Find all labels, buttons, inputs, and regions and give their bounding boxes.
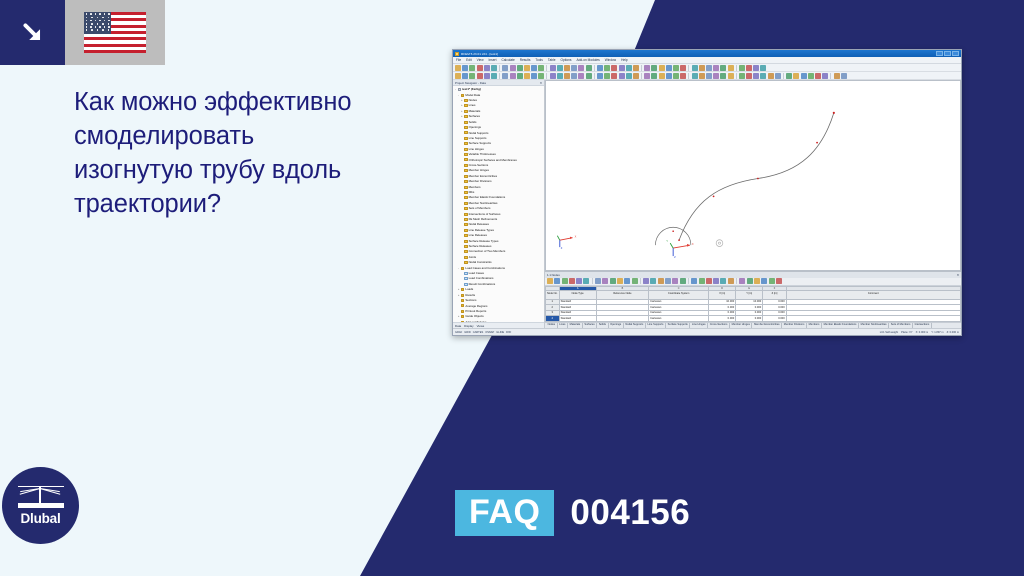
toolbar-button-39-icon[interactable]	[713, 73, 719, 79]
node-endpoint-marker	[833, 112, 835, 114]
toolbar-button-24-icon[interactable]	[611, 65, 617, 71]
folder-icon	[461, 94, 465, 97]
bridge-icon	[18, 486, 64, 508]
collapse-icon[interactable]: -	[457, 321, 460, 322]
folder-icon	[464, 126, 468, 129]
folder-icon	[464, 180, 468, 183]
tree-item-label: Model Data	[465, 94, 480, 97]
toolbar-button-31-icon[interactable]	[659, 65, 665, 71]
folder-icon	[464, 234, 468, 237]
folder-icon	[464, 110, 468, 113]
toolbar-button-40-icon[interactable]	[720, 65, 726, 71]
tree-spacer	[460, 283, 463, 286]
toolbar-button-12-icon[interactable]	[624, 278, 630, 284]
toolbar-button-27-icon[interactable]	[728, 278, 734, 284]
tree-item-label: Ribs	[469, 191, 475, 194]
toolbar-button-36-icon[interactable]	[692, 73, 698, 79]
toolbar-separator	[736, 278, 737, 284]
nodes-table[interactable]: ABCDEFNode No.Node TypeReference NodeCoo…	[545, 286, 961, 322]
tree-item-label: Load Cases and Combinations	[465, 267, 505, 270]
toolbar-button-43-icon[interactable]	[739, 73, 745, 79]
tree-item-label: Intersections of Surfaces	[469, 213, 501, 216]
toolbar-button-44-icon[interactable]	[746, 73, 752, 79]
tree-spacer	[460, 186, 463, 189]
toolbar-button-22-icon[interactable]	[597, 65, 603, 71]
toolbar-button-29-icon[interactable]	[739, 278, 745, 284]
toolbar-button-45-icon[interactable]	[753, 73, 759, 79]
toolbar-button-2-icon[interactable]	[462, 73, 468, 79]
tree-spacer	[460, 256, 463, 259]
status-info: Plane: XY	[901, 331, 913, 334]
toolbar-button-47-icon[interactable]	[768, 73, 774, 79]
folder-icon	[464, 218, 468, 221]
minimize-button[interactable]	[936, 51, 943, 56]
tree-item-label: Result Combinations	[469, 283, 496, 286]
main-toolbar[interactable]	[453, 64, 961, 72]
tree-item-label: Member Elastic Foundations	[469, 196, 506, 199]
faq-footer: FAQ 004156	[455, 490, 690, 536]
toolbar-button-46-icon[interactable]	[760, 73, 766, 79]
dlubal-logo: Dlubal	[2, 467, 79, 544]
folder-icon	[464, 158, 468, 161]
toolbar-button-22-icon[interactable]	[597, 73, 603, 79]
tree-spacer	[460, 121, 463, 124]
toolbar-button-20-icon[interactable]	[680, 278, 686, 284]
toolbar-button-52-icon[interactable]	[801, 73, 807, 79]
tree-item-label: Members	[469, 186, 481, 189]
folder-icon	[461, 315, 465, 318]
node-marker	[816, 142, 818, 144]
status-toggle-graf[interactable]: GRAF	[455, 331, 462, 334]
tree-spacer	[460, 131, 463, 134]
tree-item-label: Sections	[465, 299, 476, 302]
toolbar-button-9-icon[interactable]	[510, 65, 516, 71]
tree-spacer	[460, 142, 463, 145]
toolbar-button-29-icon[interactable]	[644, 65, 650, 71]
tree-item-label: Average Regions	[465, 305, 487, 308]
tree-item-label: Connection of Two Members	[469, 250, 506, 253]
tree-item-label: Line Releases	[469, 234, 487, 237]
toolbar-separator	[688, 73, 689, 79]
toolbar-button-15-icon[interactable]	[550, 65, 556, 71]
toolbar-button-38-icon[interactable]	[706, 73, 712, 79]
toolbar-separator	[592, 278, 593, 284]
collapse-icon[interactable]: -	[457, 94, 460, 97]
table-title-text: 1.1 Nodes	[547, 273, 560, 277]
status-toggle-cartes[interactable]: CARTES	[473, 331, 483, 334]
tree-item-label: Surface Supports	[469, 142, 491, 145]
expand-icon[interactable]: +	[457, 294, 460, 297]
toolbar-button-10-icon[interactable]	[517, 65, 523, 71]
toolbar-button-31-icon[interactable]	[754, 278, 760, 284]
folder-icon	[464, 153, 468, 156]
tree-item-label: Surfaces	[469, 115, 480, 118]
toolbar-button-16-icon[interactable]	[650, 278, 656, 284]
work-area: Project Navigator - Data ✕ -test1* (Fert…	[453, 80, 961, 328]
grid-header-cell[interactable]: Coordinate System	[649, 290, 709, 299]
toolbar-button-34-icon[interactable]	[680, 65, 686, 71]
toolbar-button-10-icon[interactable]	[517, 73, 523, 79]
maximize-button[interactable]	[944, 51, 951, 56]
tree-item-label: Materials	[469, 110, 481, 113]
toolbar-button-41-icon[interactable]	[728, 73, 734, 79]
folder-icon	[464, 229, 468, 232]
grid-header-cell[interactable]: Node Type	[559, 290, 596, 299]
menu-item-window[interactable]: Window	[605, 58, 616, 62]
toolbar-button-53-icon[interactable]	[808, 73, 814, 79]
toolbar-button-11-icon[interactable]	[524, 73, 530, 79]
menu-item-edit[interactable]: Edit	[466, 58, 472, 62]
close-button[interactable]	[952, 51, 959, 56]
folder-icon	[464, 186, 468, 189]
toolbar-separator	[546, 73, 547, 79]
toolbar-button-27-icon[interactable]	[633, 65, 639, 71]
menu-item-tools[interactable]: Tools	[535, 58, 542, 62]
navigator-title: Project Navigator - Data	[455, 81, 486, 85]
toolbar-button-20-icon[interactable]	[586, 73, 592, 79]
expand-icon[interactable]: +	[460, 110, 463, 113]
toolbar-button-5-icon[interactable]	[484, 65, 490, 71]
navigator-tab-data[interactable]: Data	[455, 324, 461, 328]
navigator-tab-views[interactable]: Views	[477, 324, 485, 328]
toolbar-button-19-icon[interactable]	[672, 278, 678, 284]
status-toggle-gline[interactable]: GLINE	[496, 331, 504, 334]
model-canvas[interactable]: X Z Y X Z	[546, 81, 960, 270]
toolbar-button-5-icon[interactable]	[576, 278, 582, 284]
folder-icon	[464, 137, 468, 140]
toolbar-button-44-icon[interactable]	[746, 65, 752, 71]
folder-icon	[464, 148, 468, 151]
tree-item-label: Solids	[469, 121, 477, 124]
expand-icon[interactable]: +	[460, 99, 463, 102]
table-panel: 1.1 Nodes ✕ ABCDEFNode No.Node TypeRefer…	[545, 271, 961, 328]
toolbar-button-15-icon[interactable]	[550, 73, 556, 79]
folder-icon	[464, 191, 468, 194]
folder-icon	[464, 142, 468, 145]
status-toggle-osnap[interactable]: OSNAP	[485, 331, 494, 334]
construction-arc	[655, 227, 690, 245]
tree-item-label: Member Nonlinearities	[469, 202, 498, 205]
toolbar-button-8-icon[interactable]	[502, 73, 508, 79]
toolbar-button-26-icon[interactable]	[720, 278, 726, 284]
toolbar-button-13-icon[interactable]	[538, 65, 544, 71]
status-bar: GRAFGRIDCARTESOSNAPGLINEDXF LC1 Self-wei…	[453, 328, 961, 335]
navigator-close-icon[interactable]: ✕	[540, 81, 542, 85]
folder-icon	[461, 299, 465, 302]
grid-header-cell[interactable]: Comment	[786, 290, 960, 299]
toolbar-button-57-icon[interactable]	[834, 73, 840, 79]
toolbar-button-5-icon[interactable]	[484, 73, 490, 79]
tree-item-label: Nodal Releases	[469, 223, 489, 226]
menu-item-options[interactable]: Options	[561, 58, 572, 62]
toolbar-button-6-icon[interactable]	[583, 278, 589, 284]
toolbar-button-38-icon[interactable]	[706, 65, 712, 71]
toolbar-separator	[640, 278, 641, 284]
tree-spacer	[460, 234, 463, 237]
toolbar-button-23-icon[interactable]	[604, 65, 610, 71]
toolbar-button-8-icon[interactable]	[595, 278, 601, 284]
arrow-down-right-icon	[0, 0, 65, 65]
tree-spacer	[460, 148, 463, 151]
expand-icon[interactable]: +	[460, 104, 463, 107]
origin-axis-triad: X Z Y	[666, 239, 694, 259]
toolbar-button-30-icon[interactable]	[651, 73, 657, 79]
menu-bar[interactable]: FileEditViewInsertCalculateResultsToolsT…	[453, 57, 961, 64]
tree-spacer	[460, 180, 463, 183]
expand-icon[interactable]: +	[460, 115, 463, 118]
toolbar-separator	[736, 65, 737, 71]
tree-item-label: Joints	[469, 256, 477, 259]
folder-icon	[464, 261, 468, 264]
toolbar-button-36-icon[interactable]	[692, 65, 698, 71]
tree-spacer	[460, 213, 463, 216]
toolbar-button-3-icon[interactable]	[469, 65, 475, 71]
toolbar-button-10-icon[interactable]	[610, 278, 616, 284]
faq-badge: FAQ	[455, 490, 554, 536]
tree-spacer	[460, 240, 463, 243]
grid-header-cell[interactable]: Z [m]	[763, 290, 787, 299]
toolbar-button-32-icon[interactable]	[666, 73, 672, 79]
toolbar-button-2-icon[interactable]	[554, 278, 560, 284]
toolbar-button-11-icon[interactable]	[524, 65, 530, 71]
tree-item-label: Loads	[465, 288, 473, 291]
tree-item-label: Surface Releases	[469, 245, 492, 248]
node-marker	[678, 239, 680, 241]
toolbar-button-11-icon[interactable]	[617, 278, 623, 284]
toolbar-button-17-icon[interactable]	[564, 65, 570, 71]
status-right: LC1 Self-weightPlane: XYX: 0.000 mY: 1.8…	[880, 331, 959, 334]
menu-item-file[interactable]: File	[456, 58, 461, 62]
navigator-tab-display[interactable]: Display	[464, 324, 473, 328]
tree-item-label: Printout Reports	[465, 310, 486, 313]
folder-icon	[464, 196, 468, 199]
toolbar-button-37-icon[interactable]	[699, 65, 705, 71]
folder-icon	[461, 267, 465, 270]
toolbar-button-24-icon[interactable]	[611, 73, 617, 79]
toolbar-separator	[641, 65, 642, 71]
status-left[interactable]: GRAFGRIDCARTESOSNAPGLINEDXF	[455, 331, 511, 334]
toolbar-button-32-icon[interactable]	[761, 278, 767, 284]
tree-spacer	[460, 169, 463, 172]
table-close-icon[interactable]: ✕	[957, 273, 959, 277]
menu-item-insert[interactable]: Insert	[489, 58, 497, 62]
toolbar-button-26-icon[interactable]	[626, 65, 632, 71]
toolbar-button-46-icon[interactable]	[760, 65, 766, 71]
toolbar-button-22-icon[interactable]	[691, 278, 697, 284]
toolbar-button-19-icon[interactable]	[578, 65, 584, 71]
tree-item-label: Guide Objects	[465, 315, 483, 318]
toolbar-button-25-icon[interactable]	[713, 278, 719, 284]
svg-text:Z: Z	[674, 255, 676, 259]
toolbar-button-25-icon[interactable]	[619, 73, 625, 79]
tree-spacer	[460, 245, 463, 248]
folder-icon	[464, 272, 468, 275]
nodes-grid: ABCDEFNode No.Node TypeReference NodeCoo…	[545, 286, 961, 322]
tree-item-label: Openings	[469, 126, 481, 129]
tree-item-label: Nodal Supports	[469, 132, 489, 135]
toolbar-button-43-icon[interactable]	[739, 65, 745, 71]
toolbar-separator	[546, 65, 547, 71]
svg-text:X: X	[575, 235, 577, 239]
toolbar-button-6-icon[interactable]	[491, 73, 497, 79]
menu-item-help[interactable]: Help	[621, 58, 628, 62]
toolbar-button-37-icon[interactable]	[699, 73, 705, 79]
project-navigator: Project Navigator - Data ✕ -test1* (Fert…	[453, 80, 545, 328]
folder-icon	[464, 256, 468, 259]
toolbar-button-41-icon[interactable]	[728, 65, 734, 71]
toolbar-button-33-icon[interactable]	[673, 73, 679, 79]
toolbar-button-20-icon[interactable]	[586, 65, 592, 71]
toolbar-button-6-icon[interactable]	[491, 65, 497, 71]
toolbar-button-27-icon[interactable]	[633, 73, 639, 79]
toolbar-button-15-icon[interactable]	[643, 278, 649, 284]
window-title: RFEM 5.23.01 x64 - [test1]	[461, 52, 934, 56]
navigator-tree[interactable]: -test1* (Fertig)-Model Data+Nodes+Lines+…	[453, 86, 544, 322]
grid-header-cell[interactable]: Reference Node	[596, 290, 648, 299]
tree-spacer	[460, 229, 463, 232]
menu-item-view[interactable]: View	[477, 58, 484, 62]
toolbar-button-55-icon[interactable]	[822, 73, 828, 79]
toolbar-button-24-icon[interactable]	[706, 278, 712, 284]
tree-spacer	[460, 126, 463, 129]
toolbar-button-23-icon[interactable]	[699, 278, 705, 284]
status-toggle-grid[interactable]: GRID	[464, 331, 470, 334]
toolbar-button-1-icon[interactable]	[455, 65, 461, 71]
grid-header-cell[interactable]: X [m]	[709, 290, 736, 299]
us-flag-icon	[84, 12, 146, 53]
model-viewport[interactable]: X Z Y X Z	[545, 80, 961, 271]
toolbar-button-18-icon[interactable]	[571, 73, 577, 79]
menu-item-table[interactable]: Table	[548, 58, 556, 62]
grid-header-cell[interactable]: Y [m]	[736, 290, 763, 299]
toolbar-button-4-icon[interactable]	[477, 73, 483, 79]
secondary-toolbar[interactable]	[453, 72, 961, 80]
toolbar-button-9-icon[interactable]	[510, 73, 516, 79]
rotation-widget	[716, 240, 723, 247]
toolbar-button-45-icon[interactable]	[753, 65, 759, 71]
toolbar-button-30-icon[interactable]	[651, 65, 657, 71]
tree-item-label: Results	[465, 294, 475, 297]
tree-spacer	[460, 153, 463, 156]
toolbar-button-32-icon[interactable]	[666, 65, 672, 71]
tree-item-label: test1* (Fertig)	[462, 88, 481, 91]
toolbar-button-1-icon[interactable]	[547, 278, 553, 284]
toolbar-button-18-icon[interactable]	[665, 278, 671, 284]
toolbar-button-13-icon[interactable]	[538, 73, 544, 79]
svg-text:Z: Z	[561, 246, 563, 250]
menu-item-add-on-modules[interactable]: Add-on Modules	[577, 58, 600, 62]
toolbar-separator	[499, 73, 500, 79]
folder-icon	[464, 277, 468, 280]
toolbar-button-8-icon[interactable]	[502, 65, 508, 71]
toolbar-button-16-icon[interactable]	[557, 73, 563, 79]
toolbar-button-13-icon[interactable]	[632, 278, 638, 284]
toolbar-button-29-icon[interactable]	[644, 73, 650, 79]
toolbar-button-3-icon[interactable]	[469, 73, 475, 79]
folder-icon	[464, 164, 468, 167]
tree-item[interactable]: -Add-on Modules	[454, 319, 544, 322]
toolbar-button-3-icon[interactable]	[562, 278, 568, 284]
toolbar-button-12-icon[interactable]	[531, 65, 537, 71]
tree-item-label: Sets of Members	[469, 207, 491, 210]
menu-item-results[interactable]: Results	[520, 58, 531, 62]
toolbar-button-48-icon[interactable]	[775, 73, 781, 79]
tree-item-label: Orthotropic Surfaces and Membranes	[469, 159, 517, 162]
toolbar-button-1-icon[interactable]	[455, 73, 461, 79]
toolbar-button-4-icon[interactable]	[569, 278, 575, 284]
collapse-icon[interactable]: -	[457, 267, 460, 270]
status-info: X: 0.000 m	[916, 331, 929, 334]
toolbar-button-50-icon[interactable]	[786, 73, 792, 79]
toolbar-button-17-icon[interactable]	[564, 73, 570, 79]
tree-spacer	[460, 137, 463, 140]
tree-item-label: Cross-Sections	[469, 164, 489, 167]
grid-header-cell[interactable]: Node No.	[546, 290, 560, 299]
expand-icon[interactable]: +	[457, 288, 460, 291]
toolbar-button-39-icon[interactable]	[713, 65, 719, 71]
toolbar-button-40-icon[interactable]	[720, 73, 726, 79]
toolbar-button-33-icon[interactable]	[769, 278, 775, 284]
status-toggle-dxf[interactable]: DXF	[506, 331, 511, 334]
toolbar-button-25-icon[interactable]	[619, 65, 625, 71]
toolbar-button-33-icon[interactable]	[673, 65, 679, 71]
grid-header-row: Node No.Node TypeReference NodeCoordinat…	[546, 290, 961, 299]
window-controls[interactable]	[936, 51, 959, 56]
node-marker	[713, 195, 715, 197]
tree-item-label: Lines	[469, 104, 476, 107]
toolbar-button-58-icon[interactable]	[841, 73, 847, 79]
tree-spacer	[460, 223, 463, 226]
logo-wordmark: Dlubal	[20, 511, 60, 526]
tree-item-label: Load Cases	[469, 272, 484, 275]
toolbar-separator	[499, 65, 500, 71]
tree-item-label: Line Hinges	[469, 148, 484, 151]
toolbar-button-26-icon[interactable]	[626, 73, 632, 79]
toolbar-button-4-icon[interactable]	[477, 65, 483, 71]
tree-spacer	[460, 196, 463, 199]
tree-item-label: Add-on Modules	[465, 321, 486, 322]
toolbar-button-9-icon[interactable]	[602, 278, 608, 284]
toolbar-button-23-icon[interactable]	[604, 73, 610, 79]
tree-spacer	[457, 310, 460, 313]
tree-spacer	[460, 218, 463, 221]
collapse-icon[interactable]: -	[454, 88, 457, 91]
menu-item-calculate[interactable]: Calculate	[501, 58, 514, 62]
table-toolbar[interactable]	[545, 278, 961, 286]
folder-icon	[464, 175, 468, 178]
toolbar-button-31-icon[interactable]	[659, 73, 665, 79]
folder-icon	[458, 88, 462, 91]
toolbar-button-19-icon[interactable]	[578, 73, 584, 79]
toolbar-button-12-icon[interactable]	[531, 73, 537, 79]
toolbar-button-30-icon[interactable]	[747, 278, 753, 284]
toolbar-button-17-icon[interactable]	[658, 278, 664, 284]
toolbar-button-34-icon[interactable]	[680, 73, 686, 79]
toolbar-button-51-icon[interactable]	[793, 73, 799, 79]
folder-icon	[461, 304, 465, 307]
toolbar-button-16-icon[interactable]	[557, 65, 563, 71]
toolbar-button-54-icon[interactable]	[815, 73, 821, 79]
expand-icon[interactable]: +	[457, 315, 460, 318]
node-marker	[757, 178, 759, 180]
toolbar-button-2-icon[interactable]	[462, 65, 468, 71]
tree-item-label: Variable Thicknesses	[469, 153, 496, 156]
toolbar-button-34-icon[interactable]	[776, 278, 782, 284]
tree-spacer	[460, 175, 463, 178]
folder-icon	[464, 202, 468, 205]
toolbar-button-18-icon[interactable]	[571, 65, 577, 71]
toolbar-separator	[783, 73, 784, 79]
